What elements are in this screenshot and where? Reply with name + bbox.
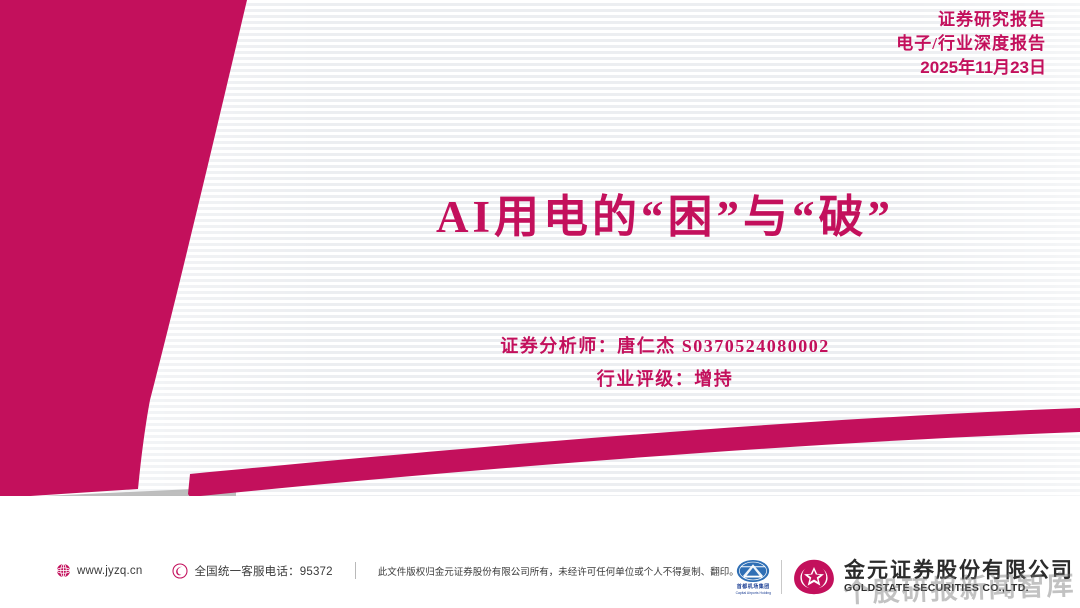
page-title: AI用电的“困”与“破” [436, 186, 894, 248]
logo-separator [781, 560, 782, 594]
copyright-notice: 此文件版权归金元证券股份有限公司所有，未经许可任何单位或个人不得复制、翻印。 [378, 564, 739, 578]
hotline-item: 全国统一客服电话：95372 [172, 563, 332, 579]
header-date: 2025年11月23日 [896, 56, 1046, 80]
analyst-block: 证券分析师：唐仁杰 S0370524080002 行业评级：增持 [250, 330, 1080, 396]
website-label: www.jyzq.cn [77, 565, 142, 577]
slide-cover-page: 证券研究报告 电子/行业深度报告 2025年11月23日 AI用电的“困”与“破… [0, 0, 1080, 608]
goldstate-cn-label: 金元证券股份有限公司 [844, 559, 1074, 582]
capital-airports-icon [736, 559, 770, 583]
industry-rating-line: 行业评级：增持 [250, 363, 1080, 396]
hotline-label: 全国统一客服电话：95372 [194, 563, 332, 579]
capital-airports-cn-label: 首都机场集团 [737, 584, 770, 590]
capital-airports-logo: 首都机场集团 Capital Airports Holding [736, 559, 771, 596]
bottom-pink-band [188, 408, 1080, 497]
globe-icon [56, 563, 71, 578]
footer-divider [355, 562, 356, 579]
capital-airports-en-label: Capital Airports Holding [736, 591, 771, 596]
goldstate-en-label: GOLDSTATE SECURITIES CO.,LTD. [844, 582, 1074, 595]
title-container: AI用电的“困”与“破” [250, 186, 1080, 248]
goldstate-mark-icon [792, 558, 836, 596]
report-header: 证券研究报告 电子/行业深度报告 2025年11月23日 [896, 8, 1046, 80]
phone-icon [172, 563, 188, 579]
goldstate-logo: 金元证券股份有限公司 GOLDSTATE SECURITIES CO.,LTD. [792, 558, 1074, 596]
logo-group: 首都机场集团 Capital Airports Holding 金元证券股份有限… [736, 558, 1074, 596]
analyst-name-line: 证券分析师：唐仁杰 S0370524080002 [250, 330, 1080, 363]
header-sector-line: 电子/行业深度报告 [896, 32, 1046, 56]
website-item[interactable]: www.jyzq.cn [56, 563, 142, 578]
left-pink-panel [0, 0, 247, 498]
footer-contact-group: www.jyzq.cn 全国统一客服电话：95372 此文件版权归金元证券股份有… [56, 562, 739, 579]
header-report-type: 证券研究报告 [896, 8, 1046, 32]
